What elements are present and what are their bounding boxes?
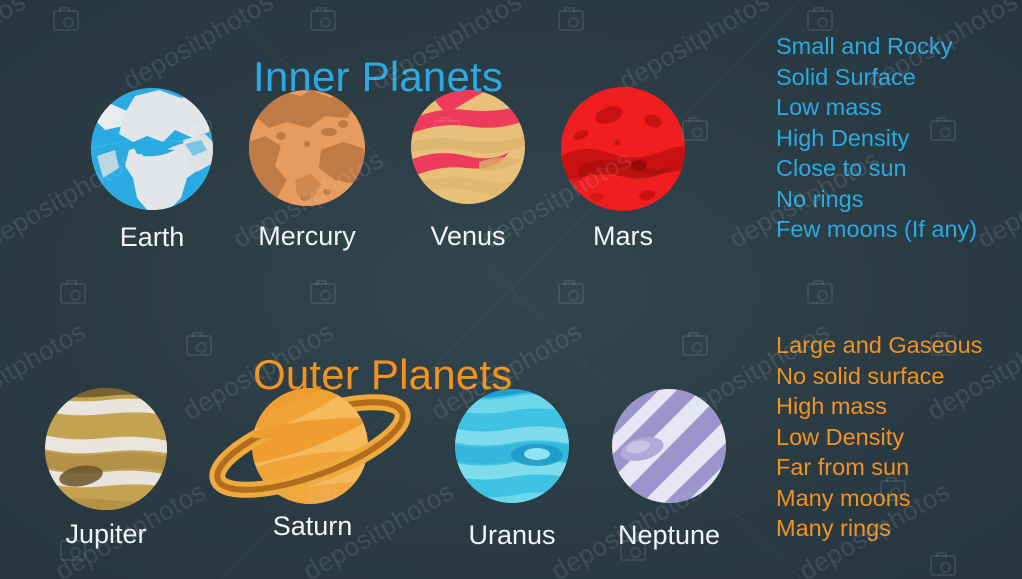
list-item: High mass bbox=[776, 391, 982, 422]
camera-icon bbox=[53, 10, 79, 31]
watermark-text: depositphotos bbox=[972, 144, 1022, 255]
planet-venus: Venus bbox=[407, 88, 529, 206]
list-item: Many moons bbox=[776, 483, 982, 514]
list-item: No solid surface bbox=[776, 361, 982, 392]
uranus-planet-icon bbox=[453, 387, 571, 505]
camera-icon bbox=[310, 10, 336, 31]
list-item: Few moons (If any) bbox=[776, 214, 977, 245]
planet-earth: Earth bbox=[86, 86, 218, 212]
planet-label: Venus bbox=[407, 221, 529, 252]
inner-planets-feature-list: Small and Rocky Solid Surface Low mass H… bbox=[776, 31, 977, 245]
list-item: Solid Surface bbox=[776, 62, 977, 93]
camera-icon bbox=[186, 335, 212, 356]
watermark-text: depositphotos bbox=[0, 0, 31, 97]
list-item: Small and Rocky bbox=[776, 31, 977, 62]
mars-planet-icon bbox=[559, 85, 687, 213]
poster-canvas: Inner Planets Small and Rocky Solid Surf… bbox=[0, 0, 1022, 579]
camera-icon bbox=[558, 283, 584, 304]
camera-icon bbox=[807, 10, 833, 31]
camera-icon bbox=[310, 283, 336, 304]
planet-neptune: Neptune bbox=[608, 387, 730, 505]
planet-label: Mars bbox=[557, 221, 689, 252]
list-item: Low mass bbox=[776, 92, 977, 123]
planet-mercury: Mercury bbox=[245, 88, 369, 208]
camera-icon bbox=[807, 283, 833, 304]
planet-mars: Mars bbox=[557, 85, 689, 213]
camera-icon bbox=[930, 555, 956, 576]
list-item: No rings bbox=[776, 184, 977, 215]
jupiter-planet-icon bbox=[43, 386, 169, 512]
mercury-planet-icon bbox=[247, 88, 367, 208]
planet-label: Saturn bbox=[205, 511, 420, 542]
planet-label: Neptune bbox=[608, 520, 730, 551]
planet-label: Jupiter bbox=[41, 519, 171, 550]
planet-label: Uranus bbox=[452, 520, 572, 551]
planet-uranus: Uranus bbox=[452, 387, 572, 505]
list-item: Many rings bbox=[776, 513, 982, 544]
camera-icon bbox=[682, 335, 708, 356]
list-item: Close to sun bbox=[776, 153, 977, 184]
outer-planets-title: Outer Planets bbox=[253, 351, 512, 399]
watermark-text: depositphotos bbox=[614, 0, 775, 97]
list-item: High Density bbox=[776, 123, 977, 154]
earth-planet-icon bbox=[89, 86, 215, 212]
list-item: Large and Gaseous bbox=[776, 330, 982, 361]
inner-planets-title: Inner Planets bbox=[253, 53, 503, 101]
planet-label: Earth bbox=[86, 222, 218, 253]
camera-icon bbox=[60, 283, 86, 304]
venus-planet-icon bbox=[409, 88, 527, 206]
list-item: Low Density bbox=[776, 422, 982, 453]
planet-jupiter: Jupiter bbox=[41, 386, 171, 512]
list-item: Far from sun bbox=[776, 452, 982, 483]
planet-label: Mercury bbox=[245, 221, 369, 252]
camera-icon bbox=[558, 10, 584, 31]
neptune-planet-icon bbox=[610, 387, 728, 505]
outer-planets-feature-list: Large and Gaseous No solid surface High … bbox=[776, 330, 982, 544]
